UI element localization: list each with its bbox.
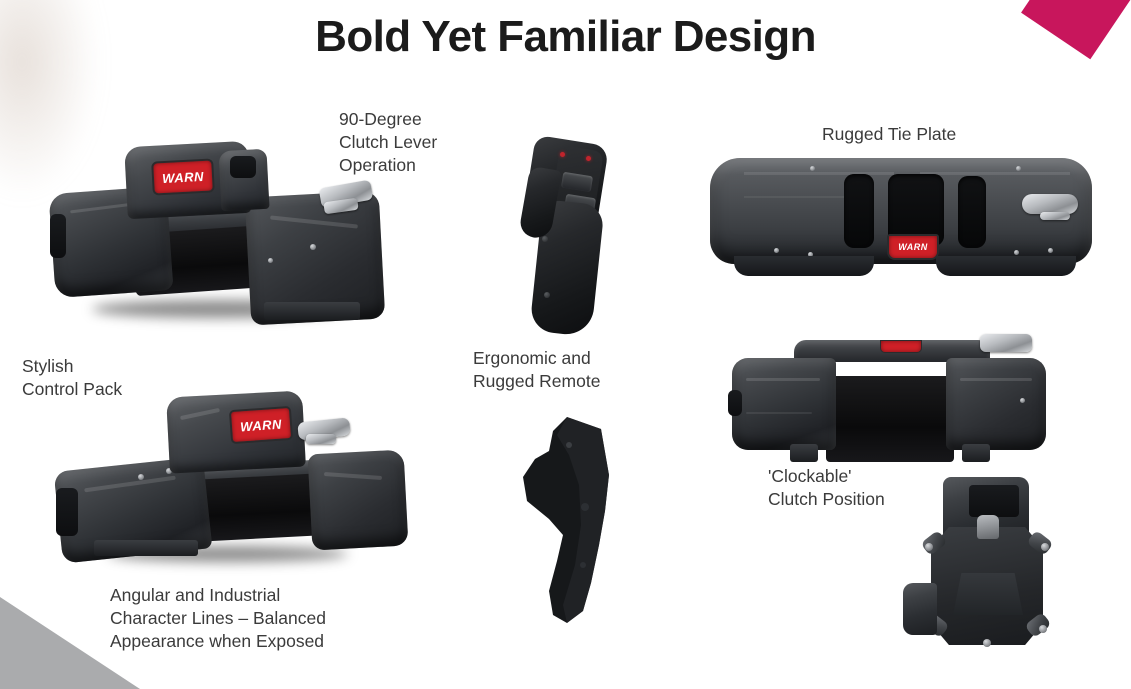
warn-badge-text: WARN [898,243,928,252]
warn-badge-strip [880,340,922,353]
winch-front-view-clockable-clutch [724,334,1054,462]
callout-clockable-clutch-position: 'Clockable' Clutch Position [768,465,885,511]
page-title: Bold Yet Familiar Design [0,12,1131,62]
winch-control-pack-view: WARN [58,378,398,568]
warn-badge-text: WARN [240,417,283,433]
callout-ergonomic-rugged-remote: Ergonomic and Rugged Remote [473,347,600,393]
indicator-led [560,152,565,157]
callout-clutch-lever-operation: 90-Degree Clutch Lever Operation [339,108,437,177]
tie-plate-window [844,174,874,248]
warn-badge: WARN [887,234,939,260]
slide-canvas: Bold Yet Familiar Design WARN [0,0,1131,689]
warn-badge-text: WARN [162,169,204,184]
clutch-housing-end-view [903,473,1078,663]
clutch-knob[interactable] [977,515,999,539]
callout-character-lines: Angular and Industrial Character Lines –… [110,584,326,653]
clutch-lever [980,334,1032,352]
clutch-lever [1022,194,1078,214]
warn-badge: WARN [229,406,293,444]
remote-grip-silhouette [505,415,645,630]
handheld-remote-grip-rear-view [505,415,645,630]
indicator-led [586,156,591,161]
tie-plate-top-view: WARN [704,152,1098,282]
callout-stylish-control-pack: Stylish Control Pack [22,355,122,401]
warn-badge: WARN [151,158,215,195]
winch-three-quarter-view: WARN [52,132,382,322]
handheld-remote-front-view [510,140,620,340]
tie-plate-window [958,176,986,248]
callout-rugged-tie-plate: Rugged Tie Plate [822,123,956,146]
